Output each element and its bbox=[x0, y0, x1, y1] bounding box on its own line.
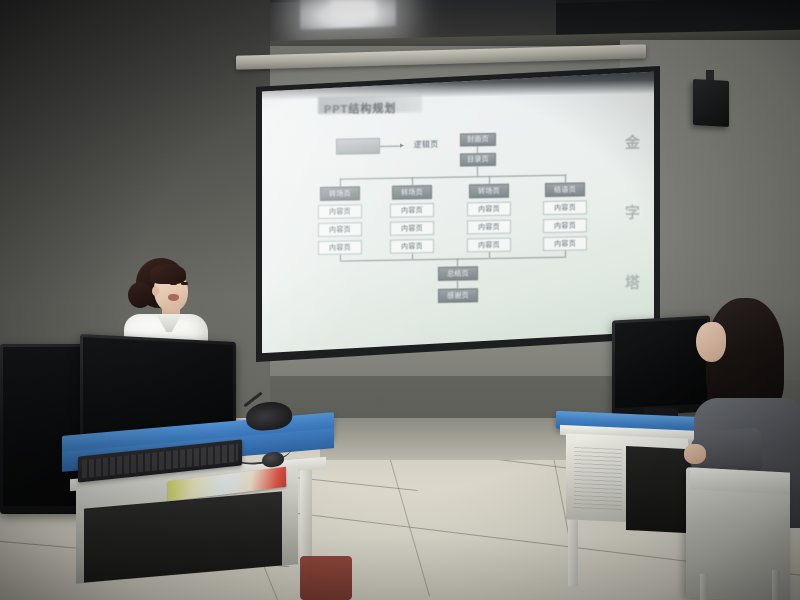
slide-bus-bottom bbox=[340, 257, 566, 262]
slide-content: PPT结构规划 逻辑页 封面页 目录页 转场页 内容页 内容页 内容页 转场页 bbox=[262, 89, 654, 346]
slide-content-node: 内容页 bbox=[390, 239, 434, 254]
chair-leg bbox=[772, 570, 780, 600]
slide-content-node: 内容页 bbox=[318, 240, 362, 255]
slide-watermark-char: 塔 bbox=[625, 271, 640, 292]
slide-connector bbox=[412, 177, 413, 185]
chair-leg bbox=[700, 574, 708, 600]
slide-connector bbox=[565, 175, 566, 183]
slide-node-toc: 目录页 bbox=[460, 153, 496, 167]
slide-section-header: 转场页 bbox=[320, 186, 360, 201]
student-face bbox=[696, 322, 726, 362]
slide-connector bbox=[489, 252, 490, 258]
red-stool bbox=[300, 556, 352, 600]
slide-connector bbox=[457, 259, 458, 267]
slide-node-source bbox=[336, 138, 380, 155]
slide-content-node: 内容页 bbox=[543, 200, 587, 215]
presenter-hair-bun bbox=[128, 282, 152, 308]
slide-arrow-line bbox=[380, 146, 400, 147]
presenter-eye bbox=[181, 282, 188, 285]
slide-connector bbox=[340, 255, 341, 261]
slide-content-node: 内容页 bbox=[543, 236, 587, 251]
slide-connector bbox=[340, 179, 341, 187]
student-hand bbox=[684, 444, 706, 464]
classroom-scene: PPT结构规划 逻辑页 封面页 目录页 转场页 内容页 内容页 内容页 转场页 bbox=[0, 0, 800, 600]
projection-screen: PPT结构规划 逻辑页 封面页 目录页 转场页 内容页 内容页 内容页 转场页 bbox=[262, 70, 654, 356]
slide-node-summary: 总结页 bbox=[438, 266, 478, 281]
slide-watermark-char: 字 bbox=[625, 201, 640, 222]
slide-content-node: 内容页 bbox=[543, 218, 587, 233]
slide-connector bbox=[412, 253, 413, 259]
slide-connector bbox=[489, 176, 490, 184]
slide-content-node: 内容页 bbox=[390, 221, 434, 236]
slide-connector bbox=[477, 146, 478, 153]
slide-content-node: 内容页 bbox=[318, 222, 362, 237]
desk-leg-right bbox=[568, 520, 578, 586]
slide-label-logic: 逻辑页 bbox=[406, 137, 446, 154]
presenter-ear bbox=[152, 286, 159, 296]
slide-connector bbox=[565, 251, 566, 257]
slide-title: PPT结构规划 bbox=[324, 100, 396, 117]
slide-content-node: 内容页 bbox=[467, 202, 511, 217]
slide-watermark-char: 金 bbox=[625, 131, 640, 152]
wall-speaker-icon bbox=[693, 79, 729, 127]
presenter-hair-front bbox=[150, 264, 186, 284]
slide-section-header: 结语页 bbox=[545, 182, 585, 197]
slide-bus-top bbox=[340, 175, 566, 180]
slide-section-header: 转场页 bbox=[469, 184, 509, 199]
slide-arrow-head-icon bbox=[400, 143, 404, 147]
slide-content-node: 内容页 bbox=[318, 204, 362, 219]
ceiling-light-core-icon bbox=[330, 0, 376, 18]
slide-node-thanks: 感谢页 bbox=[438, 288, 478, 303]
slide-node-cover: 封面页 bbox=[460, 133, 496, 147]
presenter-eye bbox=[170, 282, 177, 285]
slide-content-node: 内容页 bbox=[467, 238, 511, 253]
desk-vent-panel bbox=[574, 447, 622, 511]
presenter-mouth bbox=[168, 294, 179, 301]
slide-content-node: 内容页 bbox=[390, 203, 434, 218]
slide-content-node: 内容页 bbox=[467, 220, 511, 235]
slide-connector bbox=[457, 281, 458, 289]
slide-connector bbox=[477, 166, 478, 176]
slide-section-header: 转场页 bbox=[392, 185, 432, 200]
